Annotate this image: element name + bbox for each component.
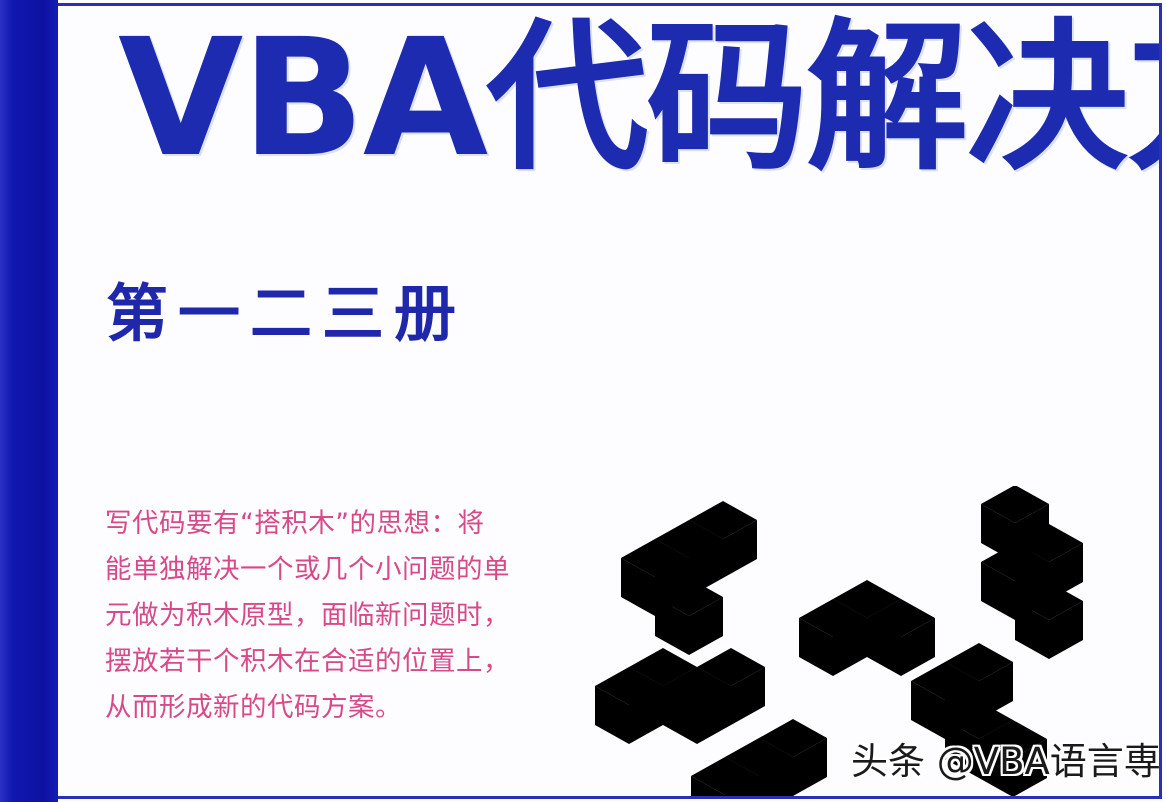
cover-subtitle: 第一二三册 (106, 283, 466, 345)
shape-l-tetromino-blue (799, 580, 935, 676)
shape-s-tetromino-red (595, 648, 765, 744)
frame-bottom-border (58, 796, 1162, 799)
body-line: 能单独解决一个或几个小问题的单 (105, 547, 565, 593)
body-line: 从而形成新的代码方案。 (105, 685, 565, 731)
left-accent-bar (0, 0, 58, 802)
body-line: 写代码要有“搭积木”的思想：将 (105, 501, 565, 547)
cover-canvas: VBA代码解决方案 第一二三册 写代码要有“搭积木”的思想：将 能单独解决一个或… (61, 6, 1159, 796)
shape-t-tetromino-wireframe (621, 501, 757, 655)
cover-title: VBA代码解决方案 (118, 18, 1159, 180)
watermark-text: 头条 @VBA语言専攻 (851, 743, 1159, 780)
shape-s-tetromino-wireframe (981, 486, 1083, 659)
left-accent-bar-gradient (0, 0, 58, 802)
cover-body-paragraph: 写代码要有“搭积木”的思想：将 能单独解决一个或几个小问题的单 元做为积木原型，… (105, 501, 565, 731)
frame-right-border (1159, 3, 1162, 799)
body-line: 元做为积木原型，面临新问题时， (105, 593, 565, 639)
body-line: 摆放若干个积木在合适的位置上， (105, 639, 565, 685)
cover-page: VBA代码解决方案 第一二三册 写代码要有“搭积木”的思想：将 能单独解决一个或… (0, 0, 1166, 802)
